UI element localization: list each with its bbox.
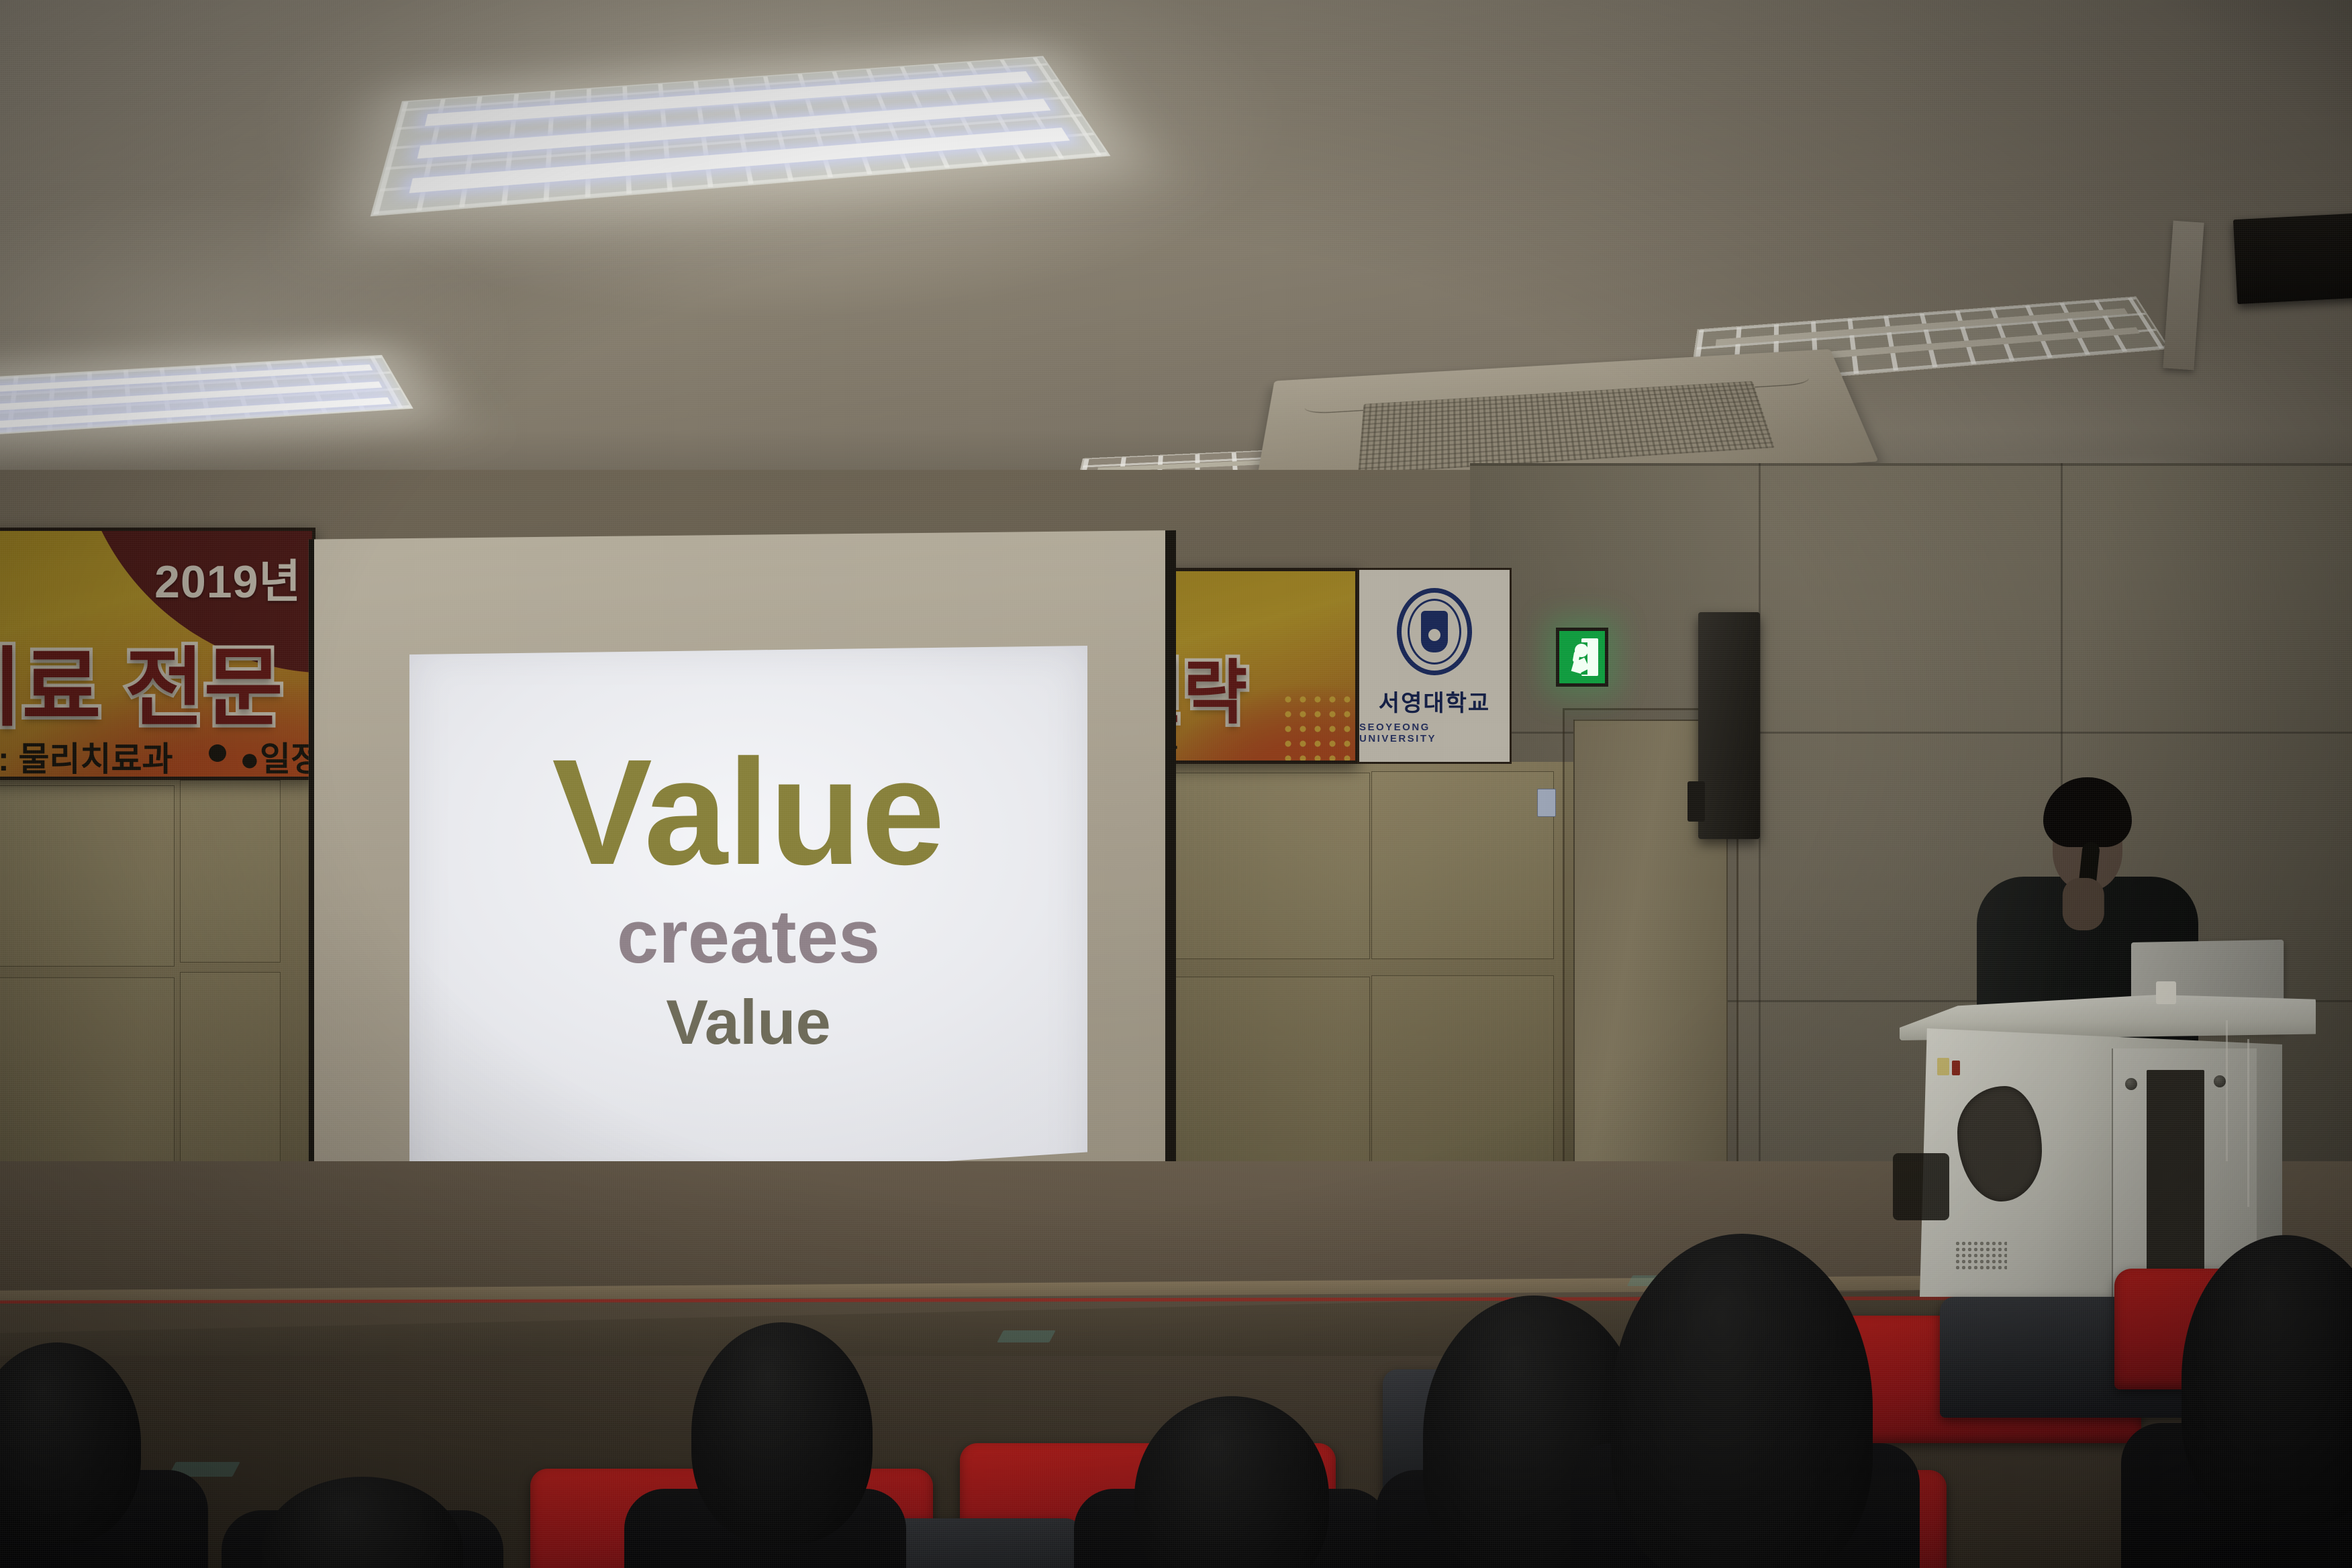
presenter-hair <box>2043 777 2132 847</box>
podium-equipment-slot <box>2147 1070 2204 1295</box>
presenter-hand <box>2063 878 2104 930</box>
audience-member-head <box>691 1322 873 1544</box>
speaker-bracket <box>1687 781 1705 822</box>
wood-panel <box>1371 771 1554 959</box>
wood-panel <box>180 780 281 963</box>
lecture-hall-photo: 2019년 치료 전문 명: 물리치료과 ●일정 전략 홀 서영대학교 SEOY… <box>0 0 2352 1568</box>
banner-right: 전략 홀 <box>1156 568 1359 764</box>
banner-left-schedule: ●일정 <box>240 732 315 780</box>
microphone-holder <box>2156 981 2176 1004</box>
banner-halftone-dots <box>1281 692 1351 761</box>
emergency-exit-sign <box>1556 628 1608 687</box>
university-emblem-icon <box>1397 588 1472 675</box>
university-name-en: SEOYEONG UNIVERSITY <box>1359 722 1510 744</box>
audience-member-head <box>1611 1234 1873 1568</box>
projector-mount <box>2233 213 2352 304</box>
podium-lock-knob[interactable] <box>2125 1078 2137 1090</box>
banner-left-subline: 명: 물리치료과 <box>0 732 173 780</box>
podium-cable <box>2247 1039 2278 1207</box>
podium-vent-holes <box>1955 1240 2007 1270</box>
exit-sign-panel <box>1564 636 1600 679</box>
wall-seam <box>1470 463 2352 466</box>
projected-slide: Value creates Value <box>409 646 1087 1196</box>
wood-panel <box>0 785 175 967</box>
banner-left-year: 2019년 <box>154 544 301 611</box>
wall-speaker <box>1698 612 1760 839</box>
wood-panel <box>1175 773 1370 959</box>
podium-lock-knob[interactable] <box>2214 1075 2226 1087</box>
emblem-shield-icon <box>1421 611 1448 652</box>
floor-marker-tape <box>997 1330 1056 1342</box>
banner-left-bullet <box>209 744 226 762</box>
university-logo-plate: 서영대학교 SEOYEONG UNIVERSITY <box>1357 568 1512 764</box>
slide-line-3: Value <box>409 991 1087 1054</box>
podium-label-sticker <box>1937 1058 1949 1075</box>
running-man-icon <box>1570 642 1587 674</box>
slide-line-1: Value <box>409 737 1087 887</box>
banner-left: 2019년 치료 전문 명: 물리치료과 ●일정 <box>0 528 315 780</box>
podium-power-led <box>1952 1061 1960 1075</box>
university-name-ko: 서영대학교 <box>1379 685 1490 718</box>
podium-cutout <box>1957 1086 2042 1202</box>
door-sign-plate <box>1537 789 1556 817</box>
banner-left-headline: 치료 전문 <box>0 618 283 742</box>
slide-line-2: creates <box>409 899 1087 975</box>
bag-on-floor <box>1893 1153 1949 1220</box>
